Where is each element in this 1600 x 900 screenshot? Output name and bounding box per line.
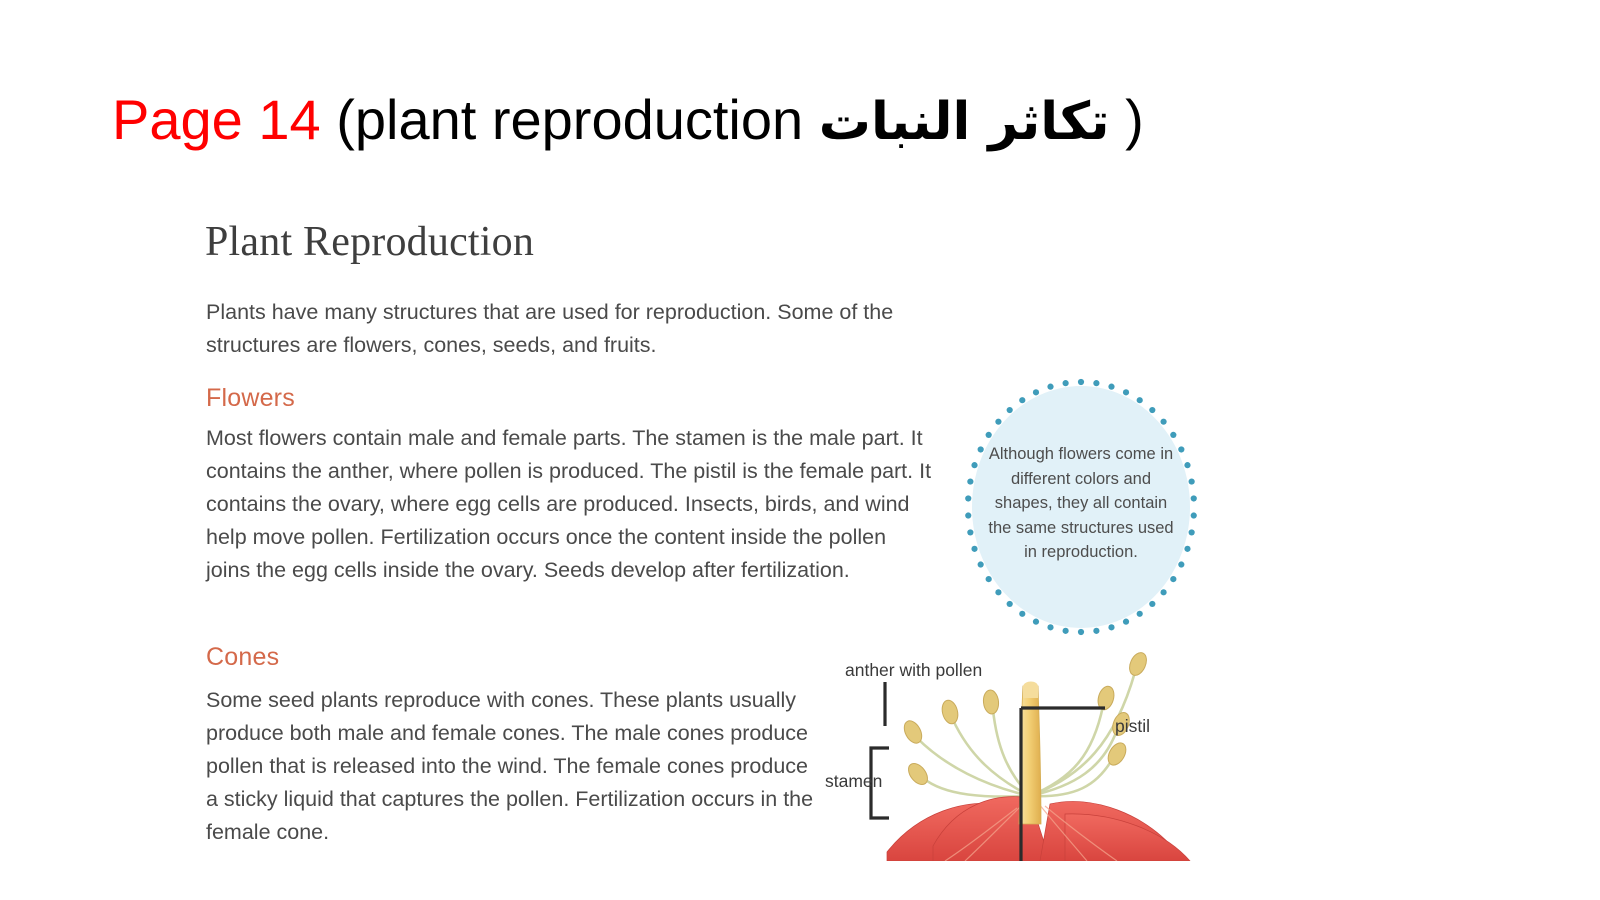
scan-heading: Plant Reproduction	[205, 218, 534, 266]
title-close-paren: )	[1125, 88, 1144, 151]
callout-text: Although flowers come in different color…	[984, 442, 1178, 565]
textbook-page-image: Plant Reproduction Plants have many stru…	[200, 206, 1235, 861]
diagram-label-pistil: pistil	[1115, 716, 1150, 737]
section-heading-flowers: Flowers	[206, 384, 295, 413]
scan-intro-paragraph: Plants have many structures that are use…	[206, 296, 946, 362]
flower-anatomy-diagram: anther with pollen pistil stamen	[825, 646, 1235, 861]
diagram-label-anther: anther with pollen	[845, 660, 982, 681]
section-heading-cones: Cones	[206, 643, 279, 672]
title-arabic: تكاثر النبات	[819, 92, 1110, 152]
section-body-cones: Some seed plants reproduce with cones. T…	[206, 684, 816, 849]
title-space-2	[803, 88, 819, 151]
page-title: Page 14 (plant reproduction تكاثر النبات…	[112, 88, 1512, 153]
title-english: plant reproduction	[355, 88, 803, 151]
section-body-flowers: Most flowers contain male and female par…	[206, 422, 936, 587]
diagram-label-stamen: stamen	[825, 771, 882, 792]
title-open-paren: (	[336, 88, 355, 151]
page-number-label: Page 14	[112, 88, 321, 151]
title-space-3	[1110, 88, 1126, 151]
callout-bubble: Although flowers come in different color…	[962, 376, 1200, 638]
title-space	[321, 88, 337, 151]
